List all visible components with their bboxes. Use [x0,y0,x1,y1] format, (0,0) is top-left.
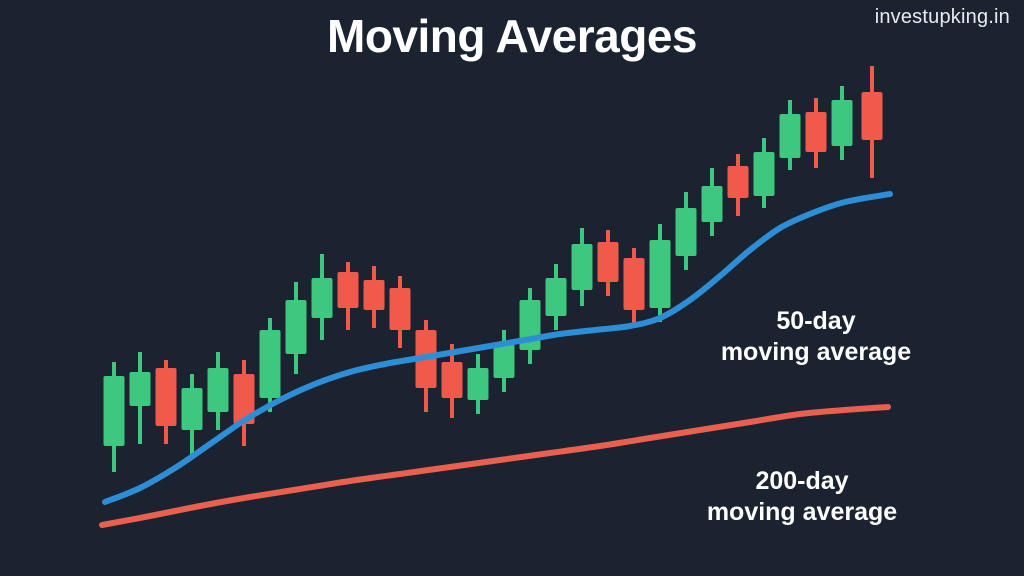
candle-body [468,368,489,400]
candle-body [598,242,619,282]
candle-body [806,112,827,152]
candle-body [312,278,333,318]
ma50-label-line2: moving average [716,337,916,368]
candle-body [728,166,749,198]
candle-body [390,288,411,330]
ma200-label: 200-day moving average [688,466,916,528]
candle-body [702,186,723,222]
candle-body [572,244,593,290]
ma50-label-line1: 50-day [716,306,916,337]
ma200-label-line1: 200-day [688,466,916,497]
candle-body [286,300,307,354]
candle-body [260,330,281,398]
candle-body [182,388,203,430]
candle-body [364,280,385,310]
candle-body [130,372,151,406]
candle-body [338,272,359,308]
candle-body [862,92,883,140]
chart-canvas: Moving Averages investupking.in 50-day m… [0,0,1024,576]
candlestick-series [104,66,883,472]
candle-body [156,368,177,426]
candle-body [442,362,463,398]
candle-body [650,240,671,308]
candle-body [754,152,775,196]
candle-body [104,376,125,446]
candle-body [546,278,567,316]
candle-body [780,114,801,158]
ma50-label: 50-day moving average [716,306,916,368]
candle-body [494,344,515,378]
candle-body [676,208,697,256]
candle-body [208,368,229,412]
ma200-label-line2: moving average [688,497,916,528]
candle-body [832,100,853,146]
candle-body [624,258,645,310]
